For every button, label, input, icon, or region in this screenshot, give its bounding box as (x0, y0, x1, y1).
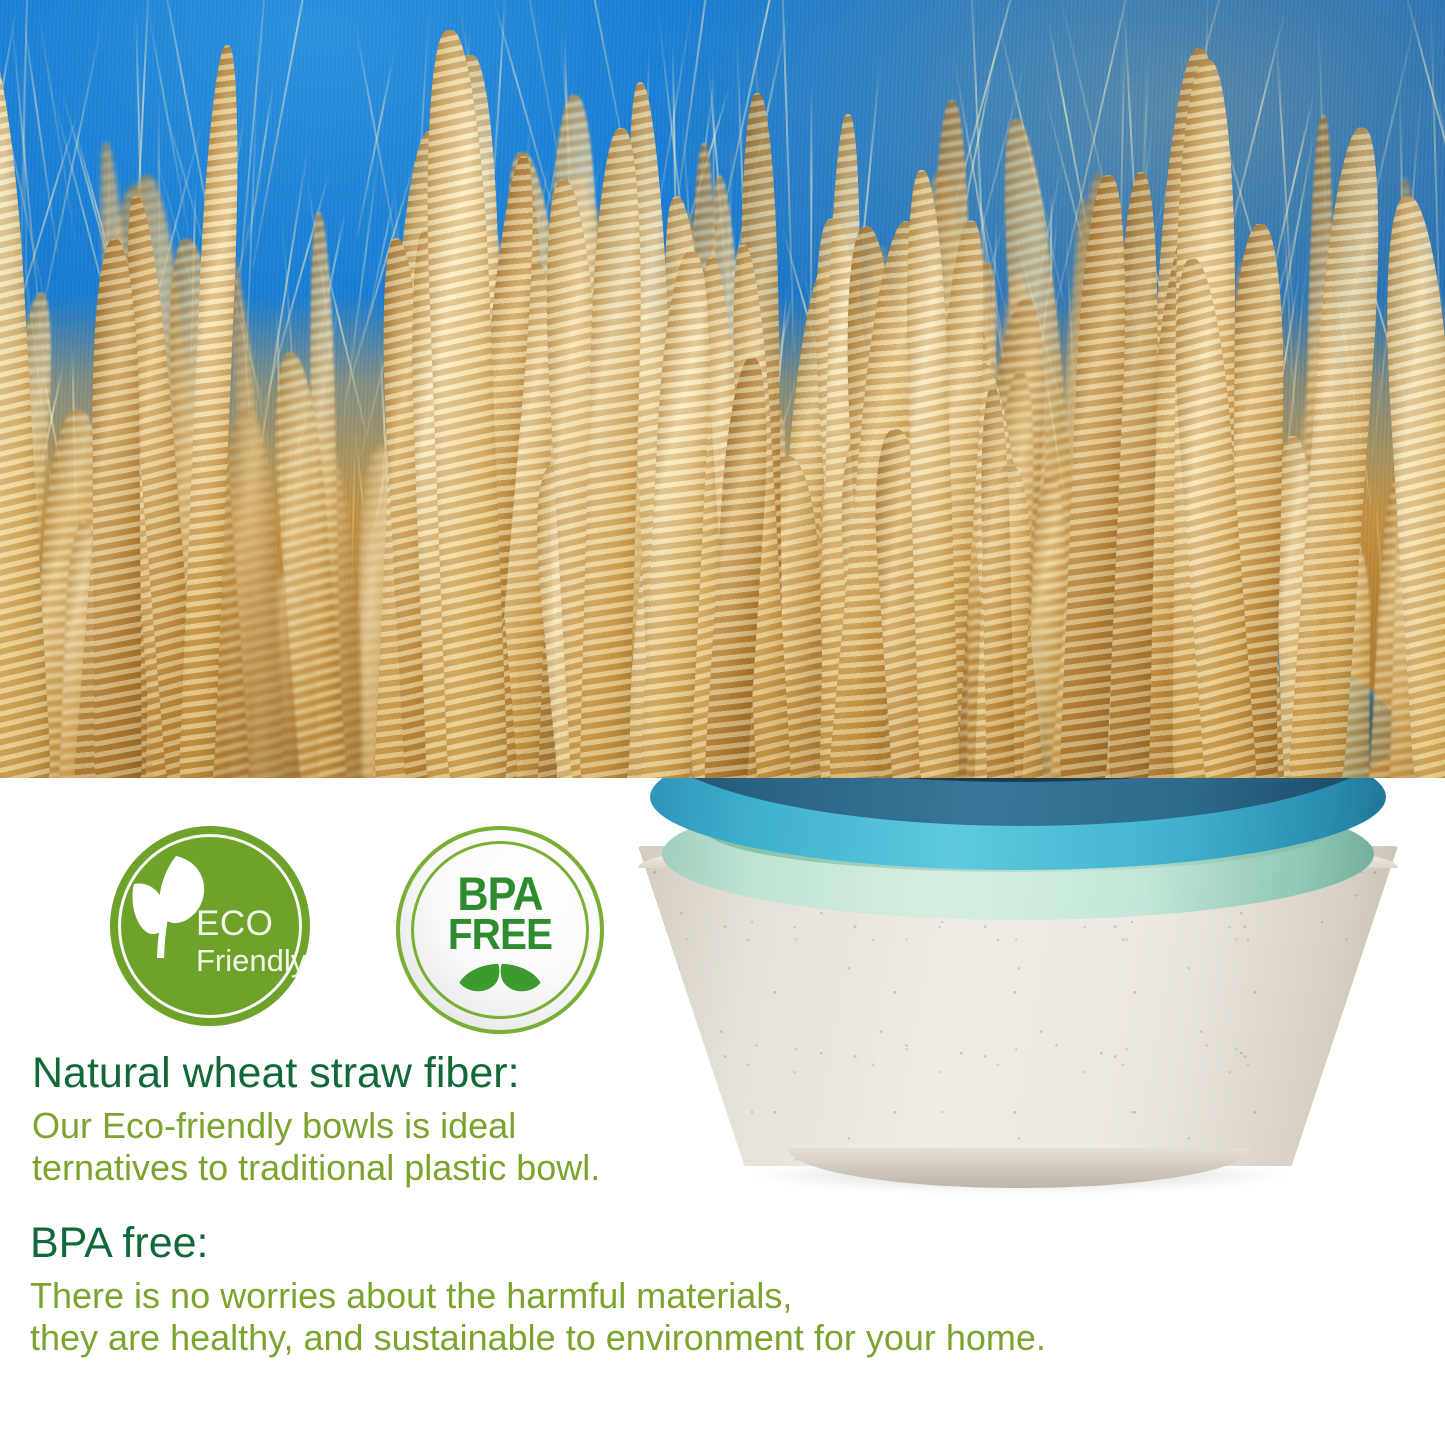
feature-heading-1: Natural wheat straw fiber: (32, 1052, 600, 1095)
product-marketing-image: ECO Friendly BPA FREE Natural wheat stra… (0, 0, 1445, 1445)
feature-heading-2: BPA free: (30, 1222, 1046, 1265)
bpa-badge-line2: FREE (408, 915, 592, 955)
eco-badge-line1: ECO (196, 906, 308, 941)
feature-block-bpa-free: BPA free: There is no worries about the … (30, 1222, 1046, 1359)
eco-badge-text: ECO Friendly (196, 906, 308, 976)
feature-body-1-line-1: Our Eco-friendly bowls is ideal (32, 1105, 600, 1147)
wheat-field-photo (0, 0, 1445, 778)
two-leaves-icon (400, 958, 600, 1005)
feature-body-2-line-1: There is no worries about the harmful ma… (30, 1275, 1046, 1317)
feature-block-natural-wheat-straw-fiber: Natural wheat straw fiber: Our Eco-frien… (32, 1052, 600, 1189)
bpa-badge-text: BPA FREE (400, 872, 600, 956)
bpa-free-badge: BPA FREE (396, 826, 604, 1034)
eco-badge-line2: Friendly (196, 945, 308, 976)
eco-friendly-badge: ECO Friendly (110, 826, 310, 1026)
feature-body-1-line-2: ternatives to traditional plastic bowl. (32, 1147, 600, 1189)
wheat-stalk (91, 239, 142, 778)
bpa-badge-line1: BPA (408, 872, 592, 915)
feature-body-2-line-2: they are healthy, and sustainable to env… (30, 1317, 1046, 1359)
